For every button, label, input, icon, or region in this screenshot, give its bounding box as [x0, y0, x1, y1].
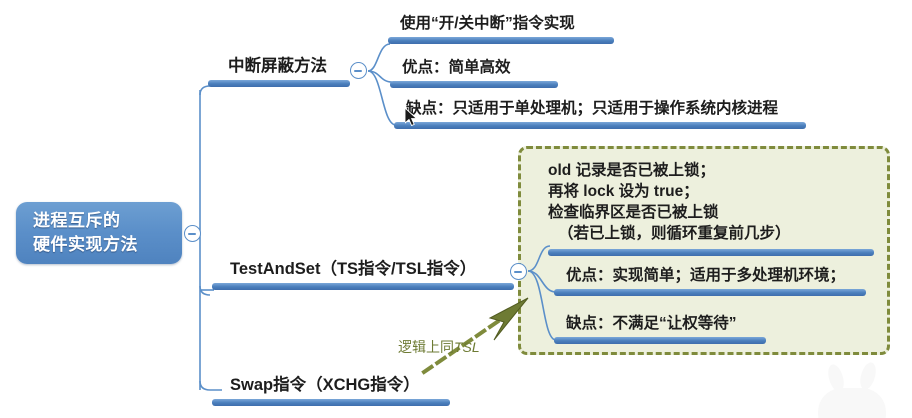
underline-bar — [548, 249, 874, 256]
leaf-drawback[interactable]: 缺点：只适用于单处理机；只适用于操作系统内核进程 — [394, 101, 806, 129]
leaf-tsl-steps[interactable]: old 记录是否已被上锁； 再将 lock 设为 true； 检查临界区是否已被… — [548, 160, 874, 256]
annotation-emphasis: TSL — [454, 339, 480, 355]
annotation-prefix: 逻辑上同 — [398, 339, 454, 355]
root-title-line-1: 进程互斥的 — [33, 209, 182, 233]
underline-bar — [212, 283, 514, 290]
leaf-tsl-drawback[interactable]: 缺点：不满足“让权等待” — [554, 316, 766, 344]
leaf-tsl-drawback-label: 缺点：不满足“让权等待” — [554, 316, 766, 332]
mindmap-canvas: 进程互斥的 硬件实现方法 中断屏蔽方法 使用“开/关中断”指令实现 优点：简单高… — [0, 0, 912, 418]
root-node[interactable]: 进程互斥的 硬件实现方法 — [16, 202, 182, 264]
branch-swap-label: Swap指令（XCHG指令） — [212, 377, 450, 394]
leaf-tsl-steps-line-1: old 记录是否已被上锁； — [548, 160, 874, 181]
collapse-minus-icon-test-and-set[interactable] — [510, 263, 527, 280]
leaf-drawback-label: 缺点：只适用于单处理机；只适用于操作系统内核进程 — [394, 101, 806, 117]
underline-bar — [388, 37, 614, 44]
leaf-instruction-label: 使用“开/关中断”指令实现 — [388, 16, 614, 32]
collapse-minus-icon-interrupt-mask[interactable] — [350, 62, 367, 79]
root-title-line-2: 硬件实现方法 — [33, 233, 182, 257]
branch-test-and-set[interactable]: TestAndSet（TS指令/TSL指令） — [212, 261, 514, 290]
branch-test-and-set-label: TestAndSet（TS指令/TSL指令） — [212, 261, 514, 278]
leaf-tsl-steps-line-4: （若已上锁，则循环重复前几步） — [548, 223, 874, 244]
leaf-instruction[interactable]: 使用“开/关中断”指令实现 — [388, 16, 614, 44]
branch-interrupt-mask-label: 中断屏蔽方法 — [208, 58, 350, 75]
underline-bar — [212, 399, 450, 406]
underline-bar — [554, 289, 866, 296]
underline-bar — [390, 81, 558, 88]
annotation-logic-same-as-tsl: 逻辑上同TSL — [398, 337, 480, 357]
leaf-advantage-label: 优点：简单高效 — [390, 60, 558, 76]
watermark-logo — [790, 356, 910, 418]
leaf-advantage[interactable]: 优点：简单高效 — [390, 60, 558, 88]
underline-bar — [394, 122, 806, 129]
collapse-minus-icon-root[interactable] — [184, 225, 201, 242]
leaf-tsl-advantage-label: 优点：实现简单；适用于多处理机环境； — [554, 268, 866, 284]
underline-bar — [208, 80, 350, 87]
underline-bar — [554, 337, 766, 344]
leaf-tsl-steps-line-3: 检查临界区是否已被上锁 — [548, 202, 874, 223]
leaf-tsl-steps-line-2: 再将 lock 设为 true； — [548, 181, 874, 202]
branch-swap[interactable]: Swap指令（XCHG指令） — [212, 377, 450, 406]
branch-interrupt-mask[interactable]: 中断屏蔽方法 — [208, 58, 350, 87]
leaf-tsl-advantage[interactable]: 优点：实现简单；适用于多处理机环境； — [554, 268, 866, 296]
